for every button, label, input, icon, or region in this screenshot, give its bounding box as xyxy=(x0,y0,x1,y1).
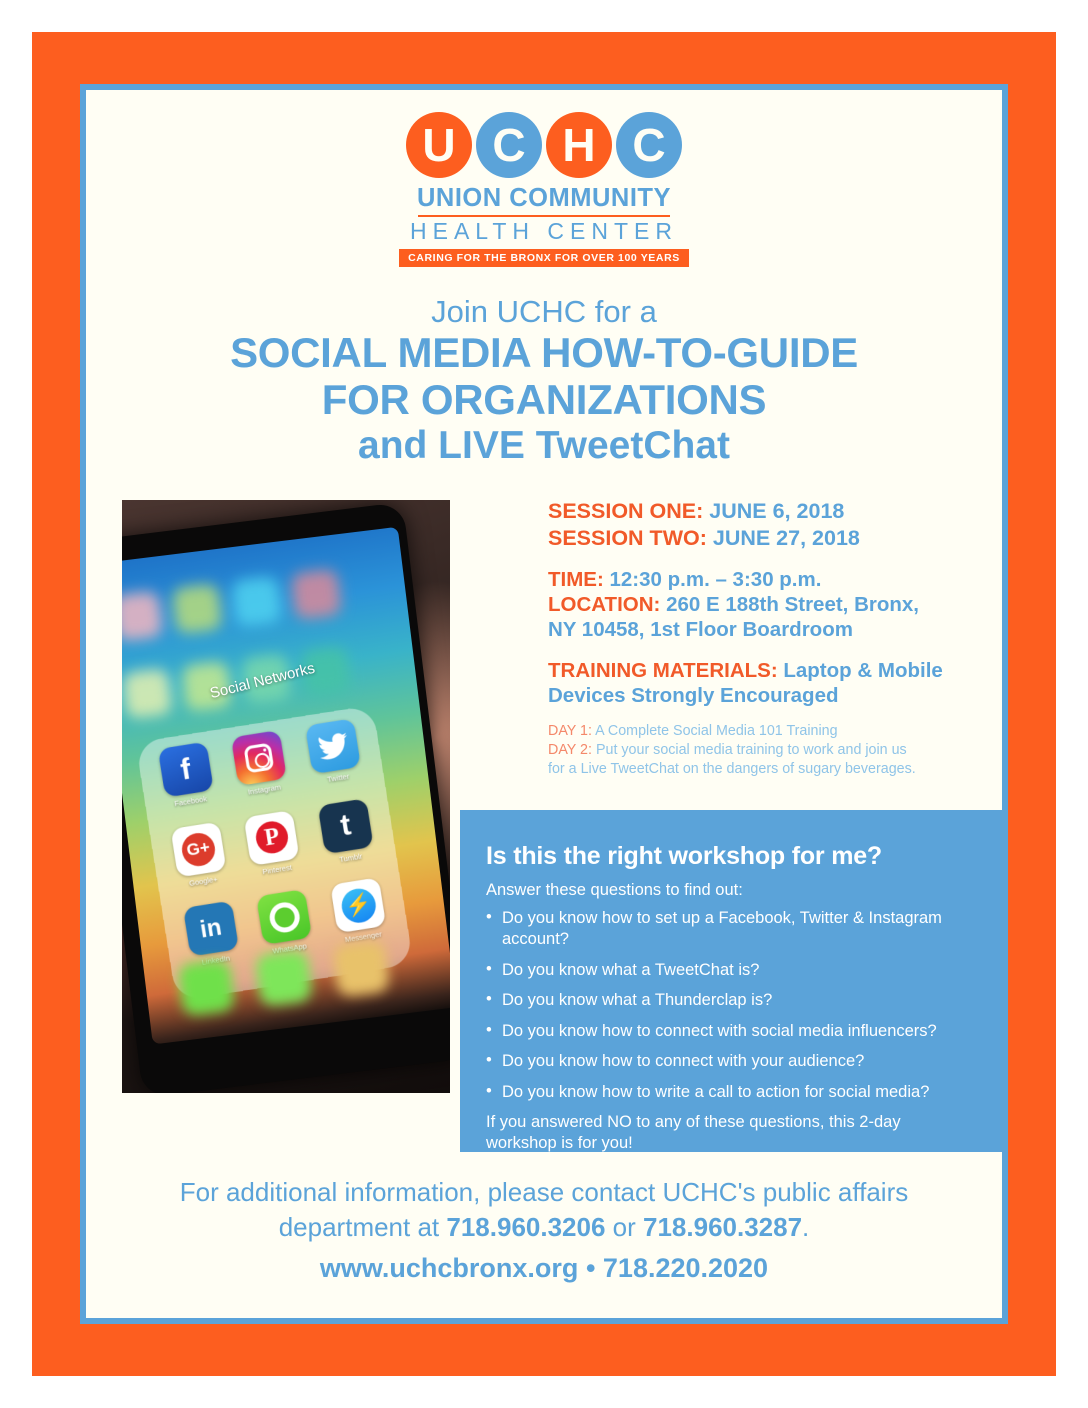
headline-line-1: SOCIAL MEDIA HOW-TO-GUIDE xyxy=(86,329,1002,376)
training-materials-label: TRAINING MATERIALS: xyxy=(548,659,778,682)
blurred-app-icon xyxy=(177,959,235,1017)
blurred-app-icon xyxy=(122,668,173,719)
app-tumblr: t Tumblr xyxy=(305,796,391,887)
messenger-icon: ⚡ xyxy=(330,878,386,934)
event-details: SESSION ONE: JUNE 6, 2018 SESSION TWO: J… xyxy=(548,498,978,779)
phone-number-2[interactable]: 718.960.3287 xyxy=(643,1212,802,1242)
logo-organization-subtitle: HEALTH CENTER xyxy=(86,218,1002,245)
session-one-label: SESSION ONE: xyxy=(548,499,703,523)
app-googleplus: G+ Google+ xyxy=(158,819,244,910)
day-2-text-line2: for a Live TweetChat on the dangers of s… xyxy=(548,761,916,777)
facebook-icon: f xyxy=(158,742,214,798)
twitter-icon xyxy=(305,718,361,774)
qbox-question-list: Do you know how to set up a Facebook, Tw… xyxy=(486,908,974,1103)
day-1-row: DAY 1: A Complete Social Media 101 Train… xyxy=(548,722,978,741)
uchc-logo: U C H C UNION COMMUNITY HEALTH CENTER CA… xyxy=(86,112,1002,267)
training-materials-value-line1: Laptop & Mobile xyxy=(783,659,942,682)
list-item: Do you know how to connect with your aud… xyxy=(486,1051,974,1072)
footer-separator: • xyxy=(578,1253,602,1283)
app-label: Tumblr xyxy=(339,851,363,863)
headline-block: Join UCHC for a SOCIAL MEDIA HOW-TO-GUID… xyxy=(86,295,1002,470)
session-one-value: JUNE 6, 2018 xyxy=(709,499,844,523)
day-2-label: DAY 2: xyxy=(548,742,592,758)
qbox-heading: Is this the right workshop for me? xyxy=(486,842,974,871)
training-materials-value-line2: Devices Strongly Encouraged xyxy=(548,684,839,707)
blurred-app-icon xyxy=(291,569,342,620)
phone-number-3[interactable]: 718.220.2020 xyxy=(603,1253,768,1283)
location-row: LOCATION: 260 E 188th Street, Bronx, NY … xyxy=(548,592,978,642)
workshop-question-box: Is this the right workshop for me? Answe… xyxy=(460,810,1002,1152)
phone-screen: Social Networks f Facebook Instagram xyxy=(122,527,450,1045)
day-1-text: A Complete Social Media 101 Training xyxy=(595,723,837,739)
blurred-app-icon xyxy=(172,583,223,634)
app-label: Twitter xyxy=(327,772,350,784)
app-instagram: Instagram xyxy=(219,728,305,819)
logo-circle-c2: C xyxy=(616,112,682,178)
website-link[interactable]: www.uchcbronx.org xyxy=(320,1253,579,1283)
app-label: Pinterest xyxy=(262,862,293,876)
day-schedule: DAY 1: A Complete Social Media 101 Train… xyxy=(548,722,978,779)
phone-number-1[interactable]: 718.960.3206 xyxy=(446,1212,605,1242)
qbox-outro: If you answered NO to any of these quest… xyxy=(486,1112,974,1154)
headline-kicker: Join UCHC for a xyxy=(86,295,1002,329)
app-label: Google+ xyxy=(188,874,218,887)
logo-organization-name: UNION COMMUNITY xyxy=(86,184,1002,213)
footer-text-part1: For additional information, please conta… xyxy=(180,1177,909,1207)
time-label: TIME: xyxy=(548,568,604,591)
time-row: TIME: 12:30 p.m. – 3:30 p.m. xyxy=(548,567,978,592)
logo-letter-circles: U C H C xyxy=(86,112,1002,178)
blurred-app-icon xyxy=(255,949,313,1007)
flyer-content: U C H C UNION COMMUNITY HEALTH CENTER CA… xyxy=(86,90,1002,1318)
linkedin-icon: in xyxy=(183,901,239,957)
pinterest-icon: P xyxy=(244,810,300,866)
footer-website-line: www.uchcbronx.org • 718.220.2020 xyxy=(86,1253,1002,1284)
day-2-text-line1: Put your social media training to work a… xyxy=(596,742,907,758)
google-plus-icon: G+ xyxy=(170,821,226,877)
flyer-page: U C H C UNION COMMUNITY HEALTH CENTER CA… xyxy=(0,0,1088,1408)
smartphone-photo: Social Networks f Facebook Instagram xyxy=(122,500,450,1093)
app-facebook: f Facebook xyxy=(145,740,231,831)
whatsapp-icon xyxy=(257,889,313,945)
app-label: Facebook xyxy=(174,794,208,808)
logo-circle-u: U xyxy=(406,112,472,178)
list-item: Do you know what a Thunderclap is? xyxy=(486,990,974,1011)
session-one-row: SESSION ONE: JUNE 6, 2018 xyxy=(548,498,978,524)
list-item: Do you know how to write a call to actio… xyxy=(486,1082,974,1103)
phone-device: Social Networks f Facebook Instagram xyxy=(122,502,450,1093)
app-label: Instagram xyxy=(247,782,281,796)
logo-circle-h: H xyxy=(546,112,612,178)
footer-text-part2: department at xyxy=(279,1212,447,1242)
location-label: LOCATION: xyxy=(548,593,660,616)
list-item: Do you know how to set up a Facebook, Tw… xyxy=(486,908,974,951)
location-value-line1: 260 E 188th Street, Bronx, xyxy=(666,593,919,616)
training-materials-row: TRAINING MATERIALS: Laptop & Mobile Devi… xyxy=(548,658,978,708)
logo-circle-c1: C xyxy=(476,112,542,178)
app-twitter: Twitter xyxy=(292,716,378,807)
tumblr-icon: t xyxy=(318,798,374,854)
location-value-line2: NY 10458, 1st Floor Boardroom xyxy=(548,618,853,641)
instagram-icon xyxy=(231,730,287,786)
footer-contact-line: For additional information, please conta… xyxy=(86,1175,1002,1245)
day-1-label: DAY 1: xyxy=(548,723,592,739)
blurred-app-icon xyxy=(122,591,163,642)
session-two-value: JUNE 27, 2018 xyxy=(713,526,860,550)
day-2-row: DAY 2: Put your social media training to… xyxy=(548,741,978,779)
headline-line-3: and LIVE TweetChat xyxy=(86,423,1002,470)
blurred-app-icon xyxy=(332,940,390,998)
twitter-bird-glyph xyxy=(316,731,350,761)
blurred-app-row-top xyxy=(122,569,342,642)
logo-divider-rule xyxy=(418,215,670,217)
blurred-app-icon xyxy=(231,576,282,627)
contact-footer: For additional information, please conta… xyxy=(86,1175,1002,1284)
list-item: Do you know how to connect with social m… xyxy=(486,1021,974,1042)
footer-text-or: or xyxy=(605,1212,643,1242)
session-two-row: SESSION TWO: JUNE 27, 2018 xyxy=(548,525,978,551)
time-value: 12:30 p.m. – 3:30 p.m. xyxy=(610,568,822,591)
footer-text-period: . xyxy=(802,1212,809,1242)
list-item: Do you know what a TweetChat is? xyxy=(486,960,974,981)
logo-tagline-bar: CARING FOR THE BRONX FOR OVER 100 YEARS xyxy=(399,249,689,267)
qbox-intro: Answer these questions to find out: xyxy=(486,881,974,900)
app-pinterest: P Pinterest xyxy=(231,808,317,899)
session-two-label: SESSION TWO: xyxy=(548,526,707,550)
headline-line-2: FOR ORGANIZATIONS xyxy=(86,376,1002,423)
